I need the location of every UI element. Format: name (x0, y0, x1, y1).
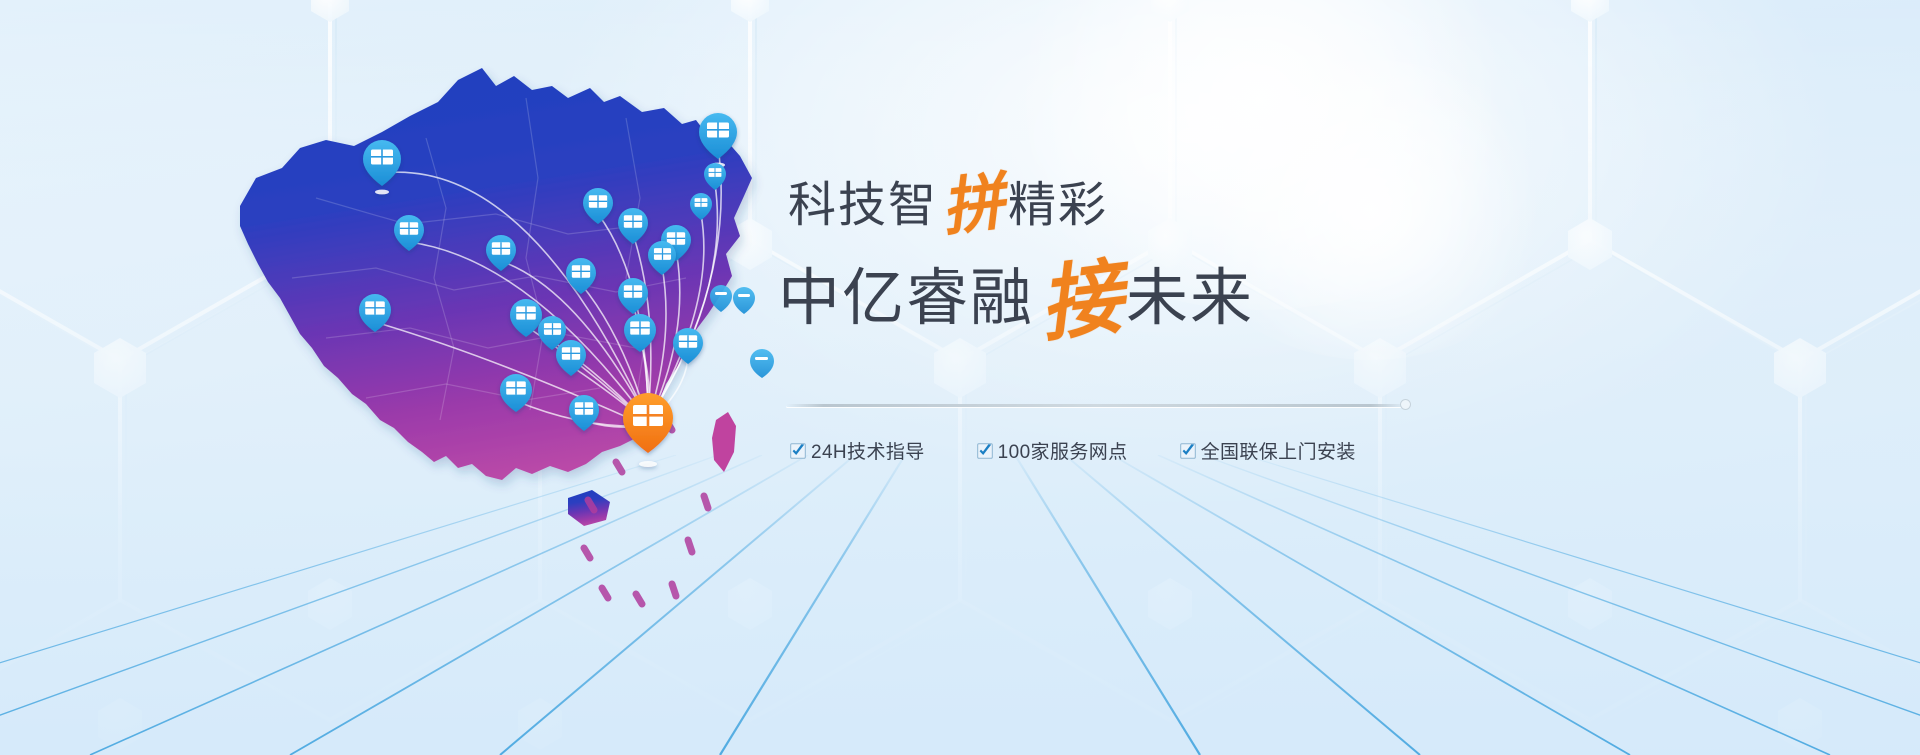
feature-label: 24H技术指导 (811, 437, 925, 464)
check-icon (1180, 443, 1196, 459)
feature-list: 24H技术指导 100家服务网点 全国联保上门安装 (790, 437, 1356, 464)
china-service-map (196, 28, 836, 628)
check-icon (790, 443, 806, 459)
headline-line1-brush-char: 拼 (938, 170, 1009, 239)
location-pin-icon[interactable] (733, 287, 755, 314)
divider-end-dot (1400, 399, 1411, 410)
location-pin-icon[interactable] (750, 349, 774, 378)
feature-item-2: 全国联保上门安装 (1180, 437, 1356, 464)
map-marker-hub[interactable] (623, 393, 673, 467)
headline-line2-prefix: 中亿睿融 (778, 268, 1034, 330)
divider (786, 404, 1408, 407)
feature-item-1: 100家服务网点 (977, 437, 1128, 464)
feature-label: 100家服务网点 (998, 437, 1128, 464)
feature-label: 全国联保上门安装 (1201, 437, 1356, 464)
location-pin-icon[interactable] (710, 285, 732, 312)
headline-block: 科技智 拼 精彩 中亿睿融 接 未来 (778, 168, 1338, 330)
headline-line1-prefix: 科技智 (788, 182, 938, 230)
headline-line1-suffix: 精彩 (1008, 182, 1108, 230)
headline-line-2: 中亿睿融 接 未来 (778, 248, 1338, 330)
check-icon (977, 443, 993, 459)
hero-banner: 科技智 拼 精彩 中亿睿融 接 未来 24H技术指导 (0, 0, 1920, 755)
headline-line2-suffix: 未来 (1126, 268, 1254, 330)
headline-line2-brush-char: 接 (1035, 255, 1128, 347)
feature-item-0: 24H技术指导 (790, 437, 925, 464)
headline-line-1: 科技智 拼 精彩 (778, 168, 1338, 230)
